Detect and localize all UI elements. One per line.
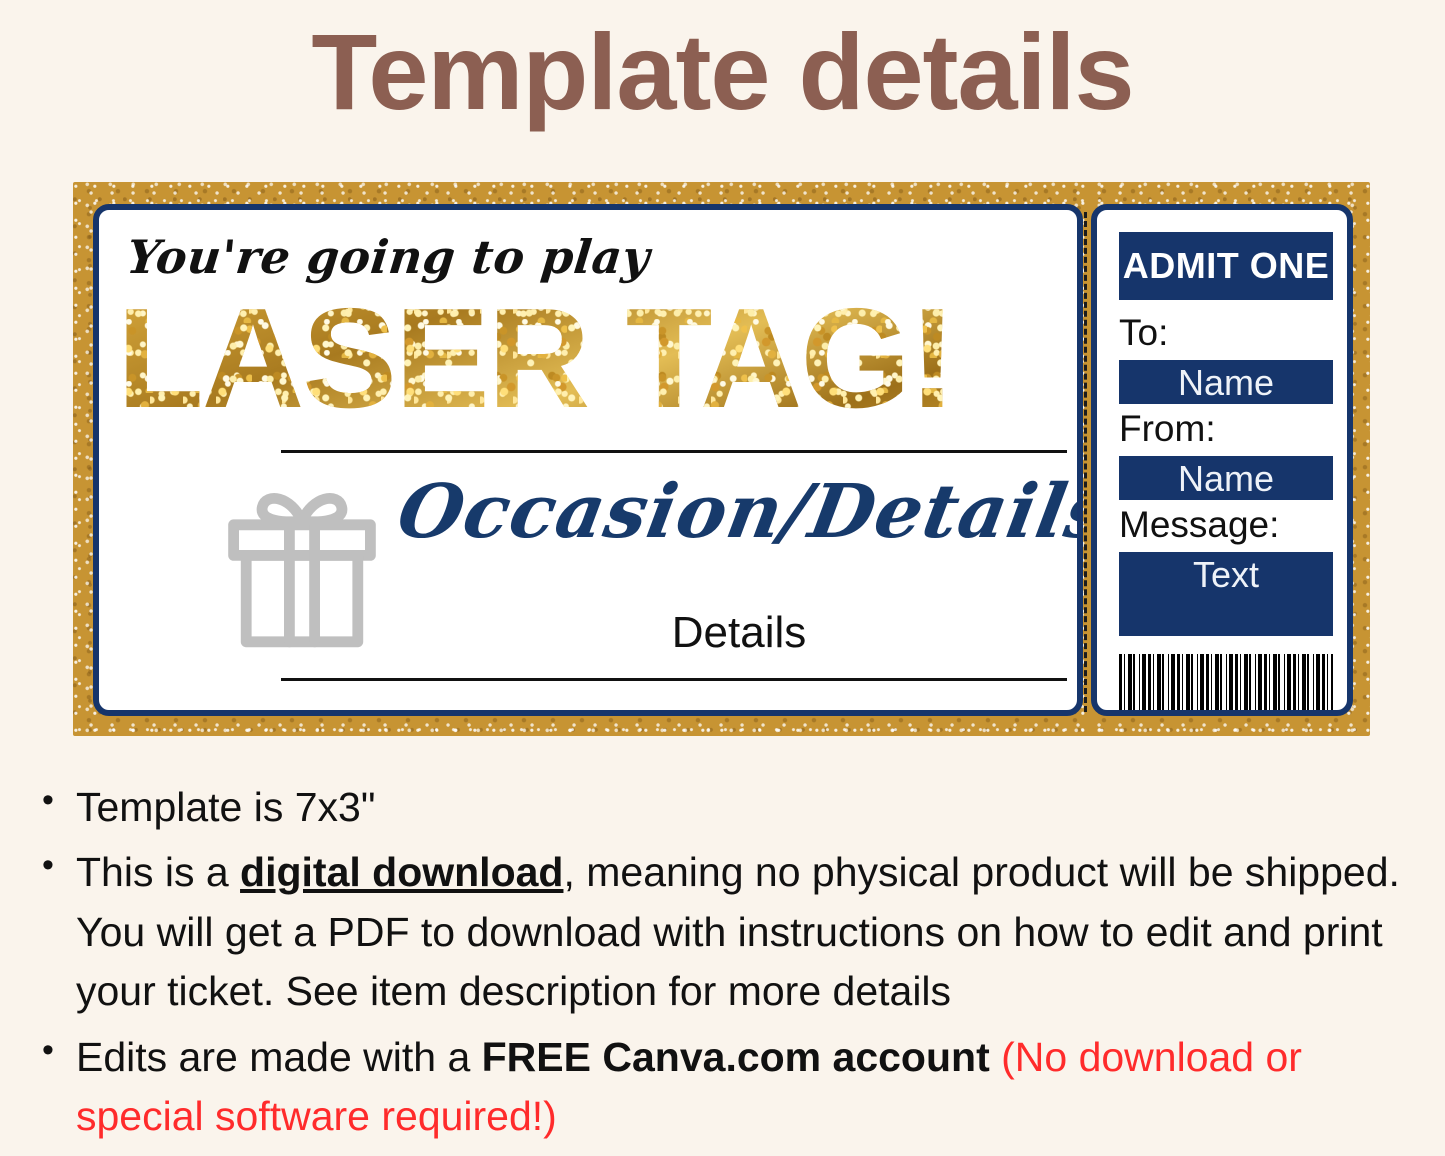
ticket-details-placeholder: Details	[399, 608, 1079, 658]
ticket-divider-top	[281, 450, 1067, 453]
list-item-text: digital download	[240, 849, 563, 895]
stub-field-to: Name	[1119, 360, 1333, 404]
list-item-text	[990, 1034, 1001, 1080]
list-item-text: Edits are made with a	[76, 1034, 482, 1080]
page-title: Template details	[0, 0, 1445, 126]
stub-label-message: Message:	[1119, 506, 1279, 543]
ticket-script-headline: You're going to play	[124, 230, 652, 284]
stub-label-to: To:	[1119, 314, 1168, 351]
ticket-perforation-line	[1084, 212, 1087, 712]
ticket-divider-bottom	[281, 678, 1067, 681]
details-bullet-list: Template is 7x3"This is a digital downlo…	[34, 778, 1414, 1147]
list-item-text: FREE Canva.com account	[482, 1034, 990, 1080]
stub-field-from: Name	[1119, 456, 1333, 500]
ticket-occasion-placeholder: Occasion/Details	[392, 472, 1083, 553]
barcode-icon	[1119, 654, 1333, 714]
template-details-list: Template is 7x3"This is a digital downlo…	[34, 778, 1414, 1153]
stub-field-message: Text	[1119, 552, 1333, 636]
stub-label-from: From:	[1119, 410, 1216, 447]
list-item: Template is 7x3"	[76, 778, 1414, 837]
ticket-main-panel: You're going to play LASER TAG! Occasion…	[93, 204, 1083, 716]
list-item: Edits are made with a FREE Canva.com acc…	[76, 1028, 1414, 1147]
ticket-big-title: LASER TAG!	[117, 288, 1069, 430]
list-item-text: Template is 7x3"	[76, 784, 375, 830]
list-item-text: This is a	[76, 849, 240, 895]
gift-box-icon	[209, 478, 395, 658]
list-item: This is a digital download, meaning no p…	[76, 843, 1414, 1021]
ticket-preview: You're going to play LASER TAG! Occasion…	[73, 182, 1370, 736]
ticket-stub-panel: ADMIT ONE To: Name From: Name Message: T…	[1091, 204, 1353, 716]
admit-one-badge: ADMIT ONE	[1119, 232, 1333, 300]
